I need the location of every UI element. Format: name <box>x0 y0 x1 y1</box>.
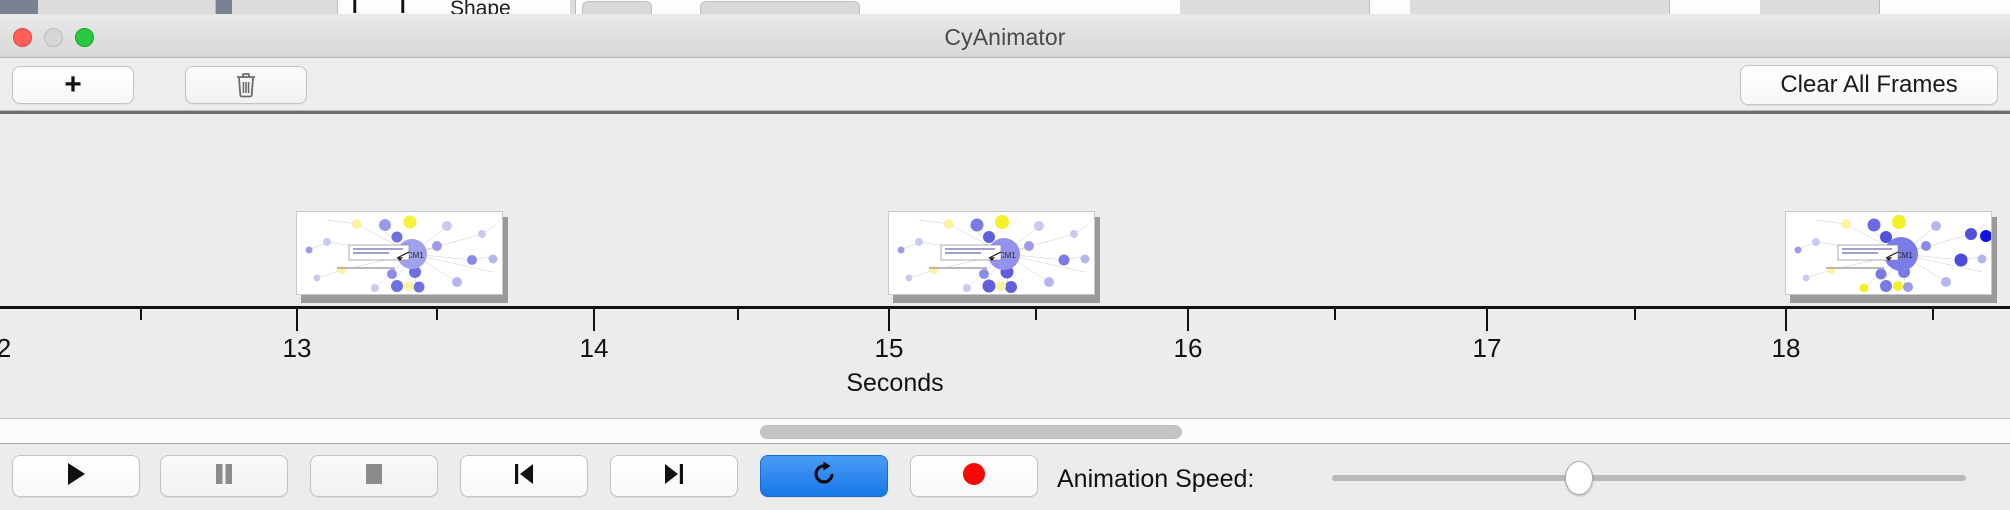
clear-all-frames-button[interactable]: Clear All Frames <box>1740 65 1998 105</box>
frame-thumbnail: MCM1 <box>296 211 503 295</box>
window-title: CyAnimator <box>0 24 2010 51</box>
skip-forward-icon <box>662 462 686 491</box>
timeline-axis <box>0 306 2010 309</box>
add-frame-button[interactable]: + <box>12 66 134 104</box>
record-button[interactable] <box>910 455 1038 497</box>
toolbar: + Clear All Frames <box>0 58 2010 111</box>
stop-icon <box>363 462 385 491</box>
axis-tick-major <box>1486 309 1488 331</box>
cyanimator-window: I I Shape CyAnimator + <box>0 0 2010 510</box>
play-icon <box>65 462 87 491</box>
loop-icon <box>811 461 837 492</box>
bg-tab-4 <box>1180 0 1370 14</box>
record-icon <box>962 462 986 491</box>
axis-caption: Seconds <box>0 369 2010 398</box>
bg-round-1 <box>582 1 652 14</box>
delete-frame-button[interactable] <box>185 66 307 104</box>
axis-tick-major <box>888 309 890 331</box>
bg-tab-2 <box>232 0 338 14</box>
bg-glyph-2: I <box>400 0 406 14</box>
frame-thumbnail: MCM1 <box>1785 211 1992 295</box>
stop-button[interactable] <box>310 455 438 497</box>
skip-to-end-button[interactable] <box>610 455 738 497</box>
axis-tick-minor <box>1334 309 1336 320</box>
bg-tab-1 <box>38 0 216 14</box>
bg-round-2 <box>700 1 860 14</box>
axis-tick-major <box>1187 309 1189 331</box>
timeline-frame-2[interactable]: MCM1 <box>888 211 1098 299</box>
animation-speed-slider[interactable] <box>1332 475 1966 481</box>
axis-label-5: 17 <box>1473 333 1502 364</box>
bg-dark-2 <box>216 0 232 14</box>
axis-tick-major <box>1785 309 1787 331</box>
axis-label-1: 13 <box>283 333 312 364</box>
timeline-top-rule <box>0 111 2010 114</box>
timeline-panel[interactable]: MCM1 <box>0 111 2010 419</box>
play-button[interactable] <box>12 455 140 497</box>
axis-label-3: 15 <box>875 333 904 364</box>
axis-tick-minor <box>1932 309 1934 320</box>
scrollbar-thumb[interactable] <box>760 425 1182 439</box>
trash-icon <box>235 72 257 98</box>
animation-speed-label: Animation Speed: <box>1057 465 1254 494</box>
clear-all-frames-label: Clear All Frames <box>1780 71 1957 99</box>
title-bar: CyAnimator <box>0 14 2010 58</box>
bg-window-label: Shape <box>450 0 511 14</box>
animation-speed-slider-thumb[interactable] <box>1565 461 1593 495</box>
axis-tick-minor <box>1634 309 1636 320</box>
skip-to-start-button[interactable] <box>460 455 588 497</box>
pause-button[interactable] <box>160 455 288 497</box>
loop-button[interactable] <box>760 455 888 497</box>
background-window-strip: I I Shape <box>0 0 2010 14</box>
pause-icon <box>213 462 235 491</box>
axis-label-6: 18 <box>1772 333 1801 364</box>
bg-tab-3 <box>570 0 576 14</box>
timeline-frame-3[interactable]: MCM1 <box>1785 211 1995 299</box>
axis-tick-major <box>296 309 298 331</box>
axis-tick-major <box>593 309 595 331</box>
timeline-frame-1[interactable]: MCM1 <box>296 211 506 299</box>
axis-label-2: 14 <box>580 333 609 364</box>
bg-dark-1 <box>0 0 38 14</box>
plus-icon: + <box>64 70 82 100</box>
skip-back-icon <box>512 462 536 491</box>
playback-bar: Animation Speed: <box>0 445 2010 510</box>
axis-tick-minor <box>140 309 142 320</box>
axis-tick-minor <box>737 309 739 320</box>
axis-label-4: 16 <box>1174 333 1203 364</box>
axis-tick-minor <box>1035 309 1037 320</box>
axis-label-0: 2 <box>0 333 11 364</box>
axis-tick-minor <box>436 309 438 320</box>
frame-thumbnail: MCM1 <box>888 211 1095 295</box>
bg-glyph-1: I <box>352 0 358 14</box>
axis-caption-text: Seconds <box>846 369 943 397</box>
bg-tab-6 <box>1760 0 1880 14</box>
timeline-scrollbar[interactable] <box>0 419 2010 444</box>
bg-tab-5 <box>1410 0 1670 14</box>
